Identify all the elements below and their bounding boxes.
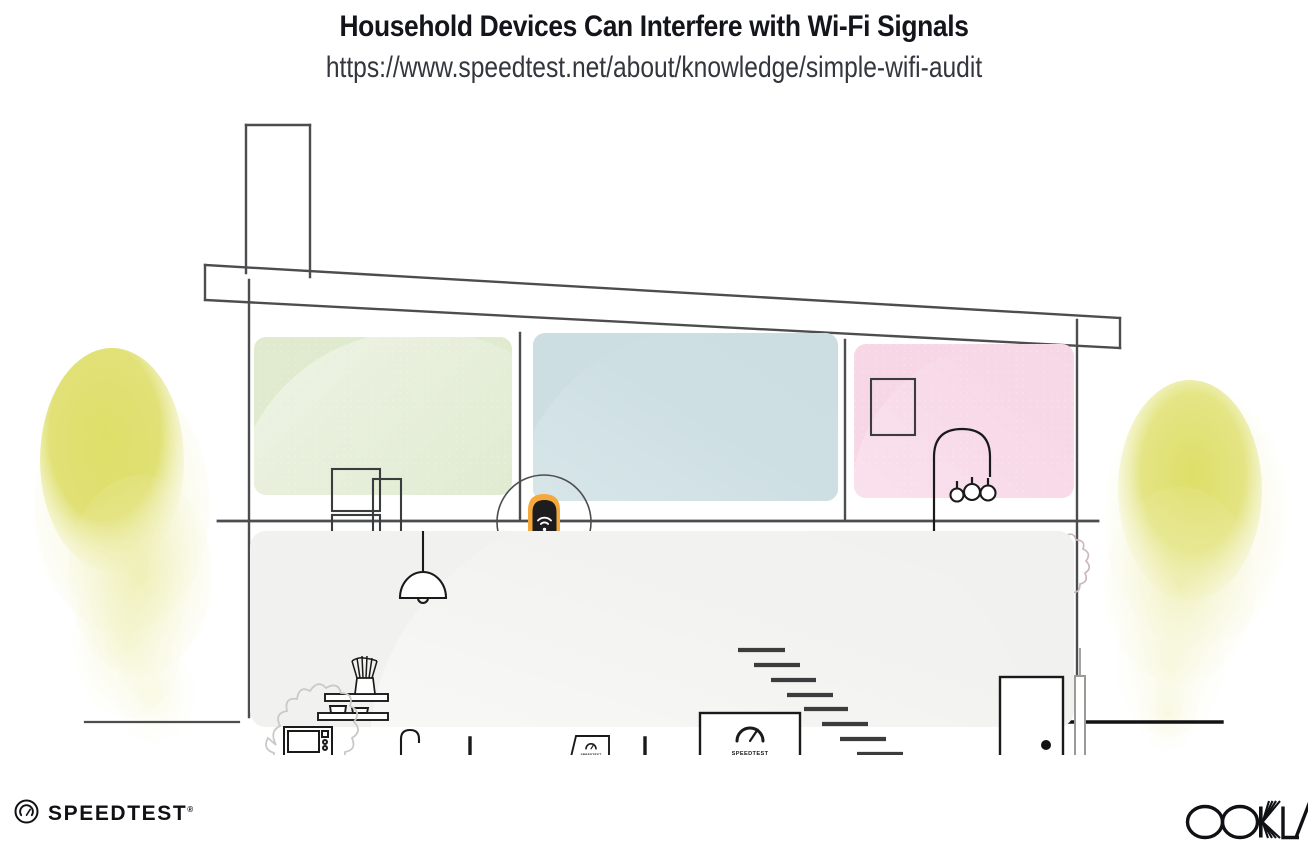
speedtest-trademark-symbol: ®	[187, 805, 193, 814]
foliage-right	[1104, 380, 1288, 751]
kitchen-sink-faucet	[401, 730, 419, 755]
microwave	[284, 727, 332, 755]
header: Household Devices Can Interfere with Wi-…	[0, 0, 1308, 85]
ookla-logo[interactable]: ™	[1184, 797, 1308, 848]
page-title: Household Devices Can Interfere with Wi-…	[78, 10, 1229, 44]
foliage-left	[34, 348, 212, 743]
footer: SPEEDTEST®	[0, 775, 1308, 861]
source-url: https://www.speedtest.net/about/knowledg…	[118, 51, 1191, 85]
front-door	[1000, 677, 1063, 755]
poster-page: Household Devices Can Interfere with Wi-…	[0, 0, 1308, 861]
chimney	[246, 125, 310, 277]
dining-chair-left	[470, 738, 500, 755]
living-tv-speedtest: SPEEDTEST	[700, 713, 800, 755]
speedtest-logo[interactable]: SPEEDTEST®	[14, 799, 193, 829]
speedtest-wordmark: SPEEDTEST®	[48, 802, 193, 826]
dining-chair-right	[615, 738, 645, 755]
speedometer-icon	[14, 799, 39, 829]
illustration-house-cutaway: SPEEDTEST	[0, 105, 1308, 755]
tv-screen-label: SPEEDTEST	[732, 751, 769, 755]
kitchen-shelf-upper	[325, 694, 388, 701]
speedtest-wordmark-text: SPEEDTEST	[48, 802, 187, 825]
laptop-screen-label: SPEEDTEST	[581, 753, 602, 755]
dining-laptop-speedtest: SPEEDTEST	[563, 736, 616, 755]
room-living-kitchen: SPEEDTEST SPEEDTEST	[250, 485, 1085, 755]
